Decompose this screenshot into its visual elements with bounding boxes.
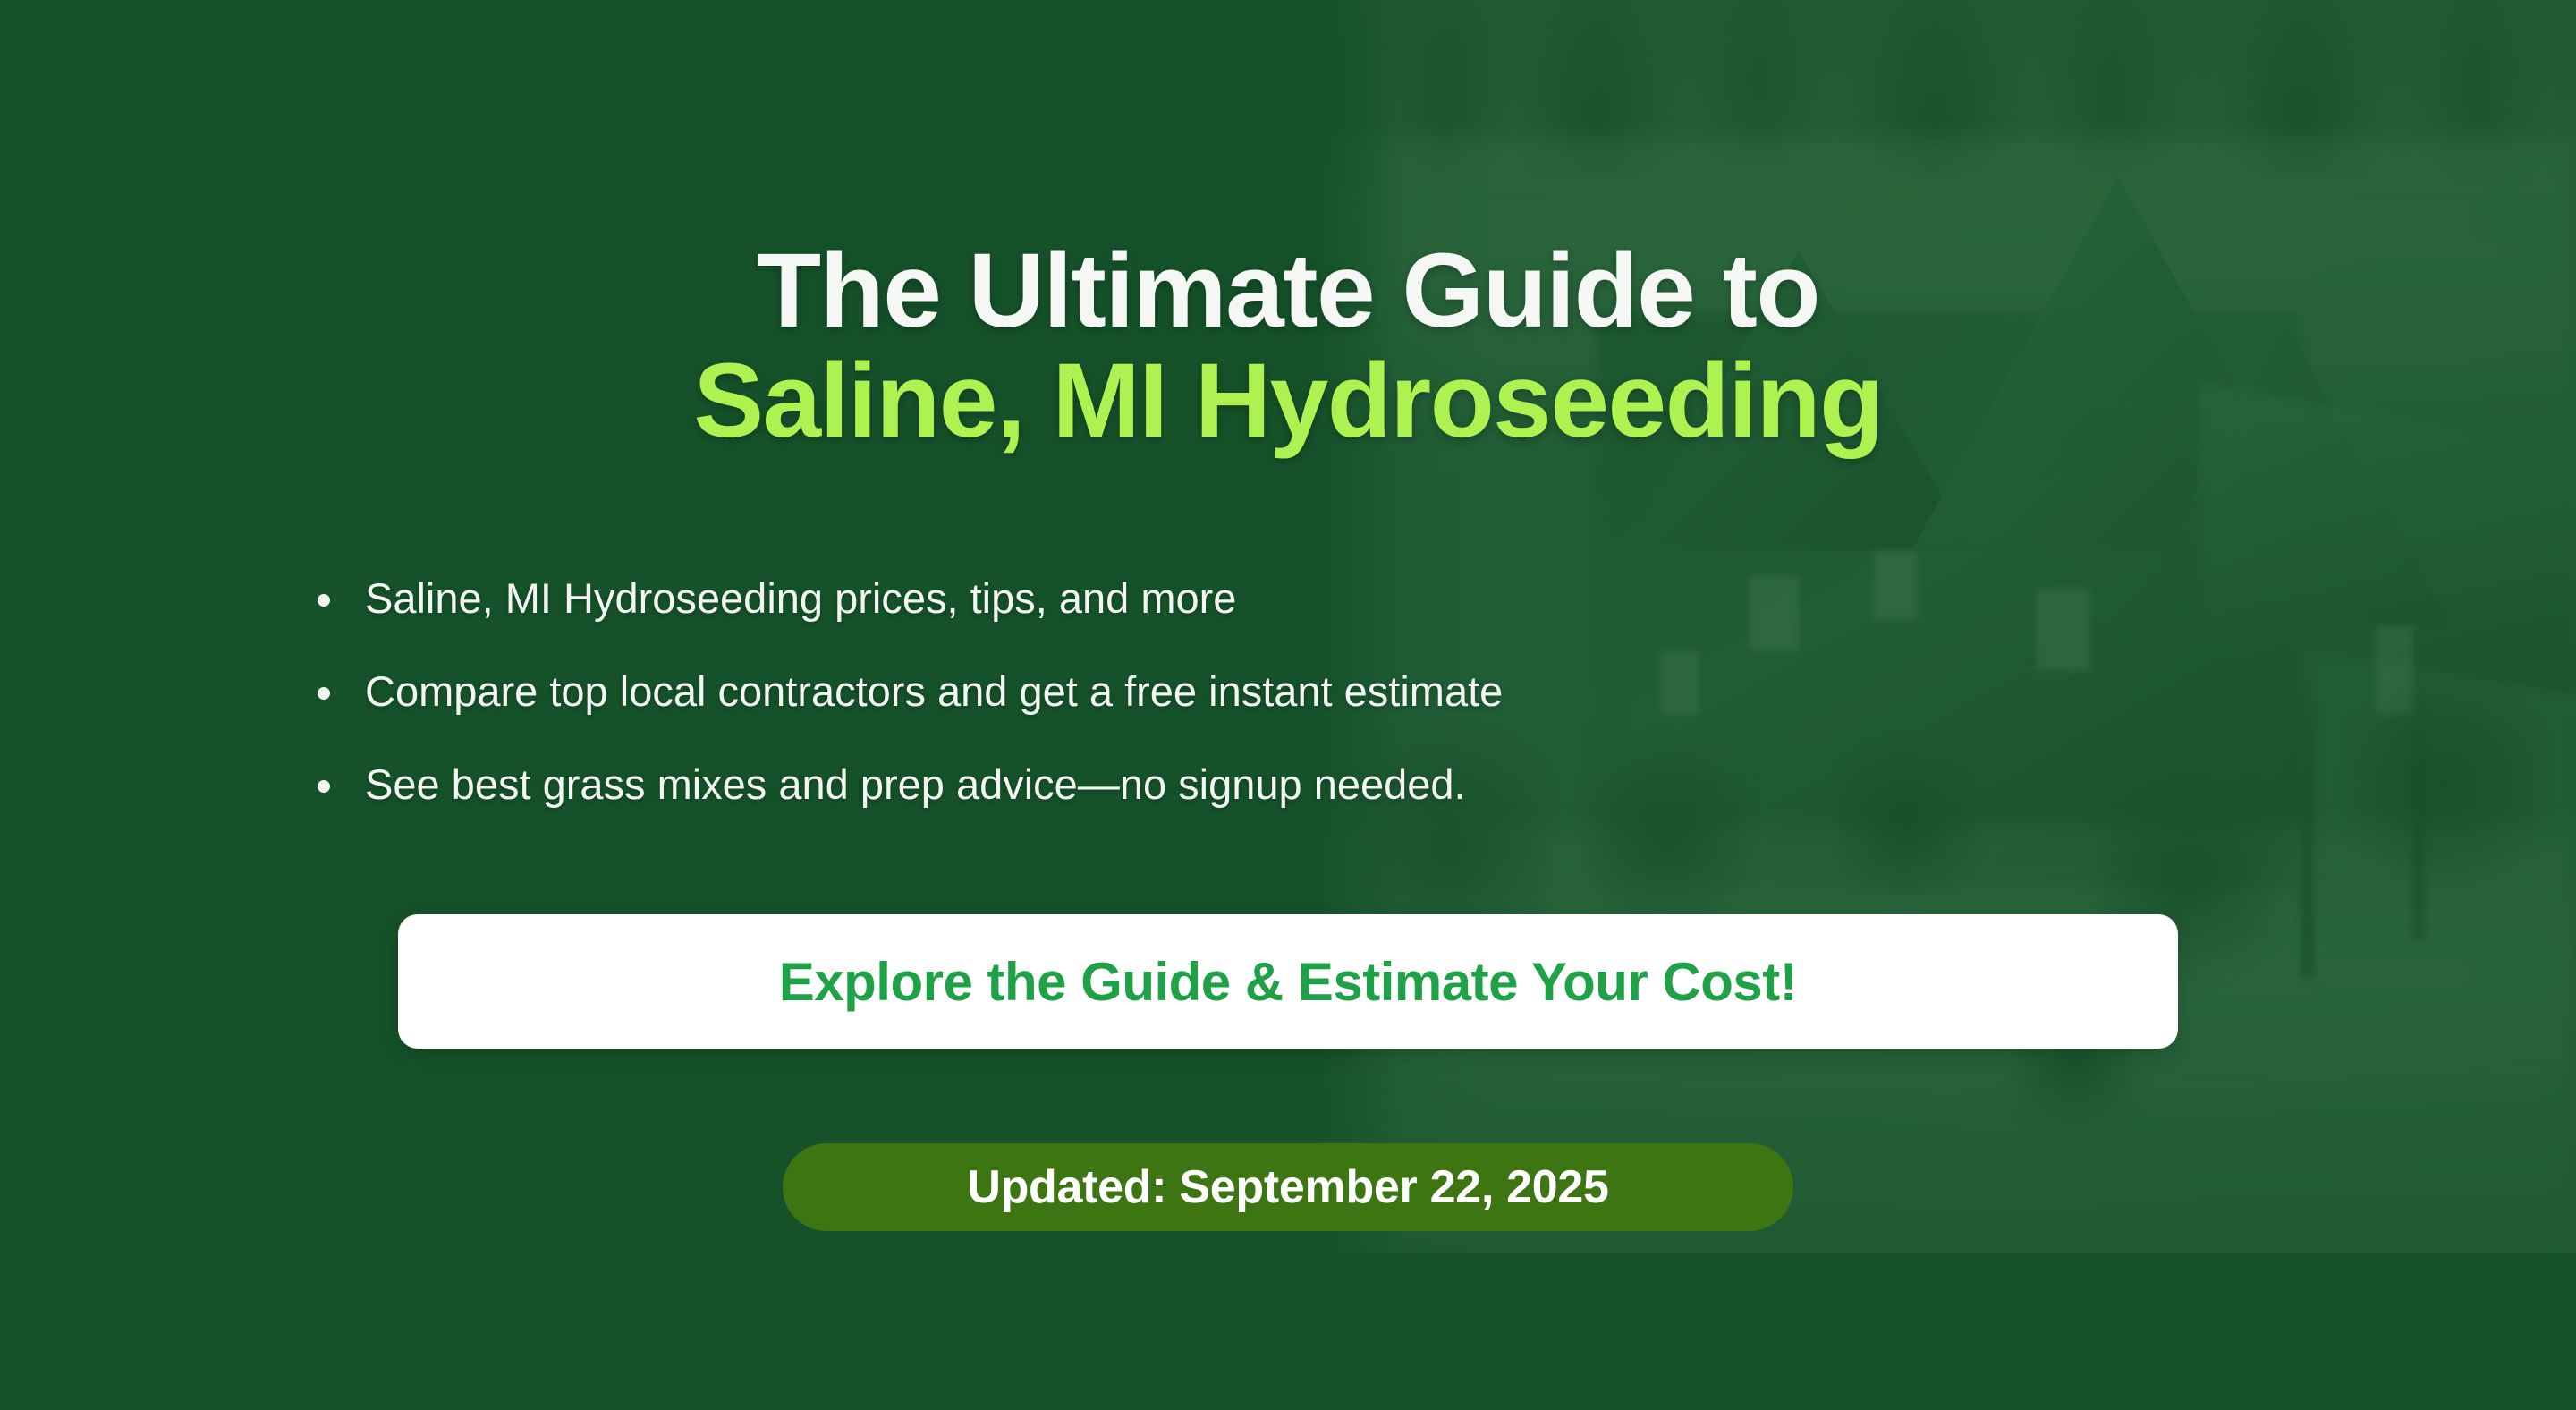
hero-banner: The Ultimate Guide to Saline, MI Hydrose… <box>0 0 2576 1410</box>
page-title-line-2: Saline, MI Hydroseeding <box>0 346 2576 456</box>
updated-date-badge: Updated: September 22, 2025 <box>783 1143 1793 1231</box>
page-title-line-1: The Ultimate Guide to <box>0 236 2576 346</box>
list-item: Saline, MI Hydroseeding prices, tips, an… <box>349 577 1503 619</box>
benefit-list: Saline, MI Hydroseeding prices, tips, an… <box>304 577 1503 805</box>
banner-content: The Ultimate Guide to Saline, MI Hydrose… <box>0 0 2576 1410</box>
list-item: See best grass mixes and prep advice—no … <box>349 763 1503 805</box>
page-title: The Ultimate Guide to Saline, MI Hydrose… <box>0 236 2576 455</box>
explore-guide-cta-button[interactable]: Explore the Guide & Estimate Your Cost! <box>398 914 2178 1049</box>
list-item: Compare top local contractors and get a … <box>349 670 1503 712</box>
